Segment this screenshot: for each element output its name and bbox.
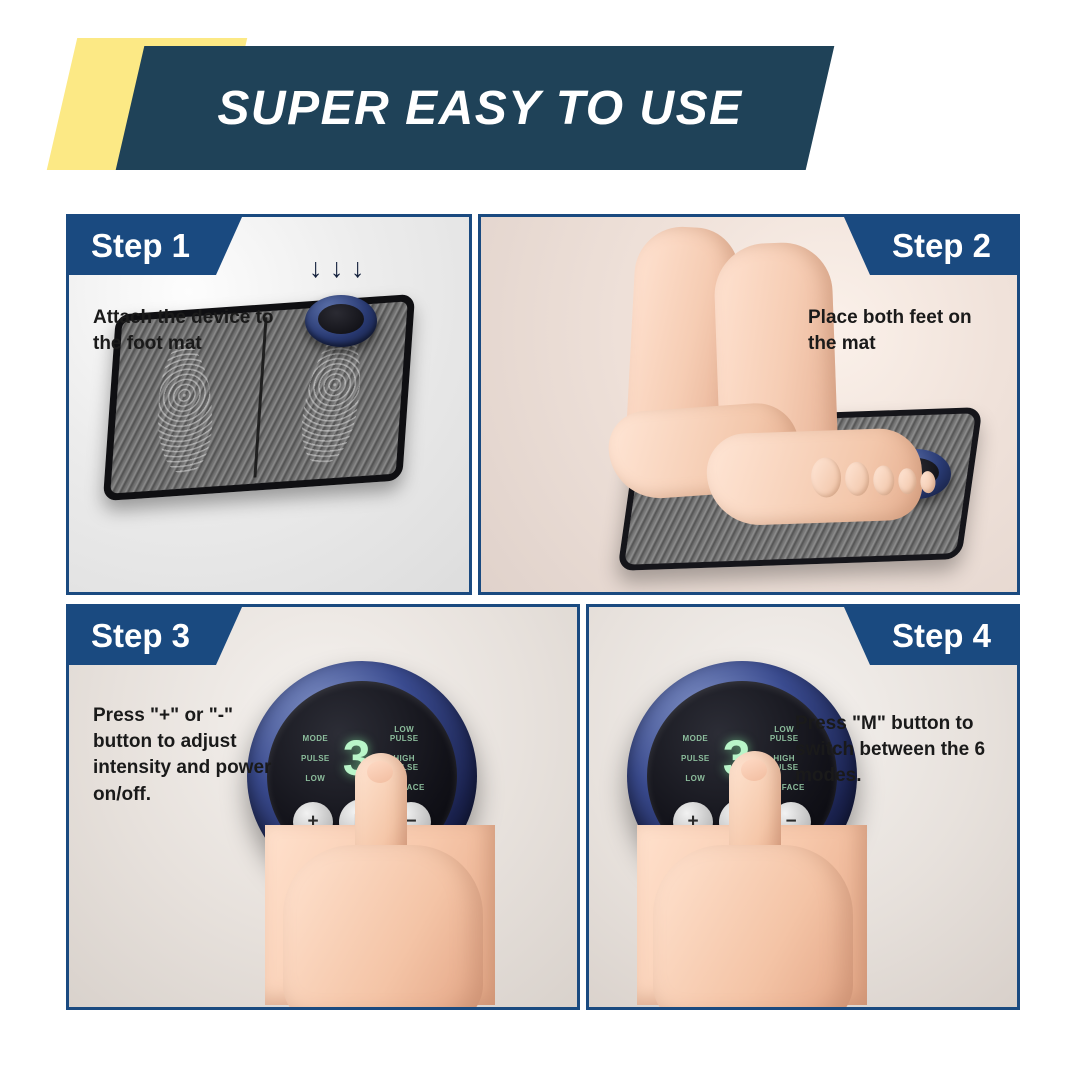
fingernail-step3	[367, 761, 393, 783]
toe-2	[844, 461, 870, 496]
toe-1	[810, 457, 842, 499]
toe-5	[920, 471, 936, 494]
palm-step3	[283, 845, 483, 1010]
step-4-photo: MODE PULSE LOW 3 LOW PULSE HIGH PULSE SU…	[589, 607, 1017, 1007]
palm-step4	[653, 845, 853, 1010]
step-1-caption: Attach the device to the foot mat	[93, 305, 293, 357]
down-arrows-icon: ↓ ↓ ↓	[309, 253, 365, 284]
display-label-low-4: LOW	[681, 774, 710, 783]
display-label-pulse-4: PULSE	[681, 754, 710, 763]
toe-4	[898, 468, 917, 495]
step-3-label: Step 3	[69, 607, 216, 665]
step-3-card: MODE PULSE LOW 3 LOW PULSE HIGH PULSE SU…	[66, 604, 580, 1010]
display-label-pulse: PULSE	[301, 754, 330, 763]
steps-grid: ↓ ↓ ↓ Step 1 Attach the device to the fo…	[66, 214, 1014, 1004]
step-4-label: Step 4	[870, 607, 1017, 665]
header-banner: SUPER EASY TO USE	[0, 38, 1080, 173]
toe-3	[873, 465, 896, 496]
step-4-caption: Press "M" button to switch between the 6…	[795, 711, 995, 790]
display-label-low-pulse: LOW PULSE	[384, 725, 425, 743]
hand-step4	[637, 825, 867, 1005]
hand-step3	[265, 825, 495, 1005]
step-3-caption: Press "+" or "-" button to adjust intens…	[93, 703, 273, 808]
display-left-labels-step4: MODE PULSE LOW	[681, 734, 710, 783]
display-label-mode-4: MODE	[681, 734, 710, 743]
controller-puck-small	[305, 295, 377, 347]
step-2-label: Step 2	[870, 217, 1017, 275]
display-label-low: LOW	[301, 774, 330, 783]
step-2-caption: Place both feet on the mat	[808, 305, 993, 357]
step-4-card: MODE PULSE LOW 3 LOW PULSE HIGH PULSE SU…	[586, 604, 1020, 1010]
fingernail-step4	[741, 759, 767, 781]
toes-group	[810, 452, 936, 499]
step-1-label: Step 1	[69, 217, 216, 275]
display-left-labels-step3: MODE PULSE LOW	[301, 734, 330, 783]
step-1-card: ↓ ↓ ↓ Step 1 Attach the device to the fo…	[66, 214, 472, 595]
page-title: SUPER EASY TO USE	[150, 46, 810, 170]
mat-footprint-right	[295, 331, 371, 464]
step-2-card: Step 2 Place both feet on the mat	[478, 214, 1020, 595]
display-label-mode: MODE	[301, 734, 330, 743]
mat-footprint-left	[156, 339, 214, 478]
